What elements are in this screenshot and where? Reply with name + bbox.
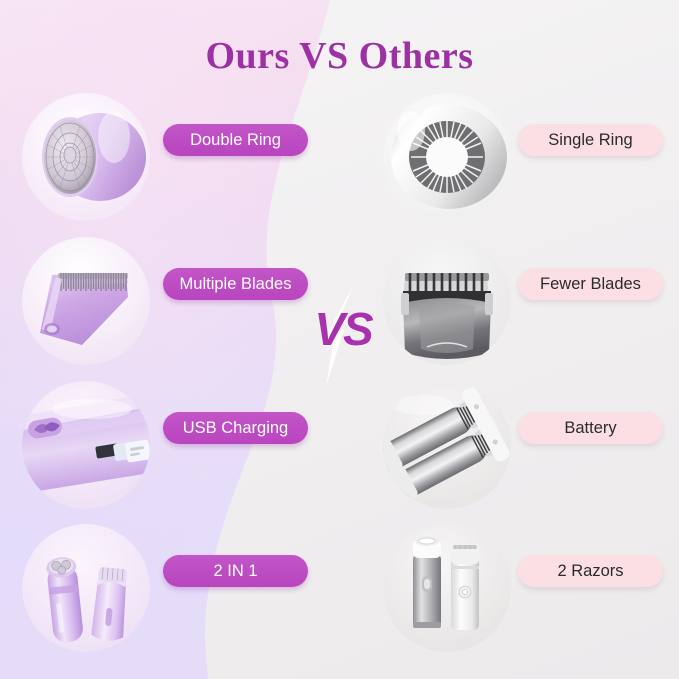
- product-image-silver-shaver-head: [383, 93, 511, 221]
- product-image-battery-compartment: [383, 381, 511, 509]
- page-title: Ours VS Others: [0, 34, 679, 78]
- product-image-usb-charging-port: [22, 381, 150, 509]
- product-image-purple-shaver-head: [22, 93, 150, 221]
- comparison-row: USB Charging: [0, 376, 679, 516]
- comparison-row: 2 IN 1: [0, 519, 679, 659]
- feature-label-ours: USB Charging: [163, 412, 308, 444]
- product-image-purple-trimmer: [22, 237, 150, 365]
- comparison-row: Double Ring: [0, 88, 679, 228]
- feature-label-others: 2 Razors: [518, 555, 663, 587]
- comparison-infographic: Ours VS Others: [0, 0, 679, 679]
- versus-label: VS: [300, 302, 386, 356]
- versus-badge: VS: [300, 292, 386, 378]
- feature-label-ours: Double Ring: [163, 124, 308, 156]
- feature-label-others: Battery: [518, 412, 663, 444]
- product-image-silver-trimmer: [383, 237, 511, 365]
- product-image-two-in-one-devices: [22, 524, 150, 652]
- feature-label-others: Fewer Blades: [518, 268, 663, 300]
- feature-label-ours: Multiple Blades: [163, 268, 308, 300]
- feature-label-others: Single Ring: [518, 124, 663, 156]
- product-image-two-separate-razors: [383, 524, 511, 652]
- feature-label-ours: 2 IN 1: [163, 555, 308, 587]
